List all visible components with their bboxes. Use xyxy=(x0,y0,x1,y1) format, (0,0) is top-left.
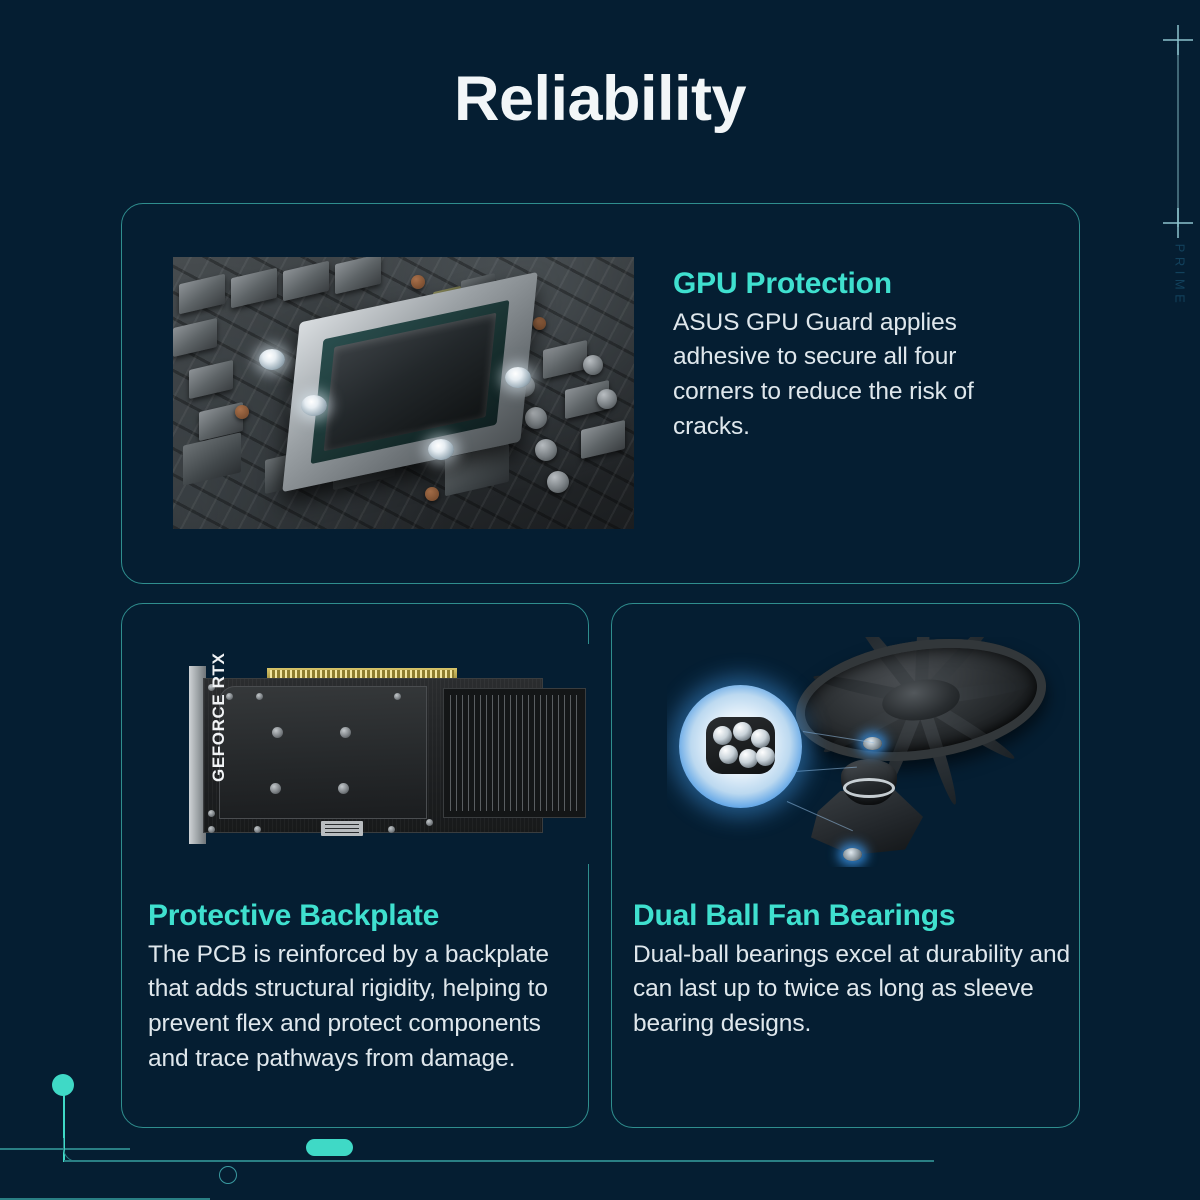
gpu-substrate xyxy=(311,300,510,464)
page-title: Reliability xyxy=(0,68,1200,131)
screw xyxy=(272,727,283,738)
circuit-trace xyxy=(0,1198,210,1200)
gpu-die-closeup-photo xyxy=(173,257,634,529)
mount-hole xyxy=(235,405,249,419)
circuit-node-filled xyxy=(52,1074,74,1096)
screw xyxy=(208,826,215,833)
adhesive-dot xyxy=(301,395,327,416)
dual-ball-bearing-detail xyxy=(706,717,775,774)
capacitor xyxy=(597,389,617,409)
circuit-decoration xyxy=(0,1040,420,1200)
screw xyxy=(270,783,281,794)
bearing-ball xyxy=(733,722,752,741)
bearing-highlight-bottom xyxy=(843,848,862,861)
geforce-rtx-label: GEFORCE RTX xyxy=(209,662,229,782)
mount-hole xyxy=(533,317,546,330)
model-sticker xyxy=(321,821,363,836)
magnifier-bubble xyxy=(679,685,802,808)
gpu-protection-text-block: GPU Protection ASUS GPU Guard applies ad… xyxy=(673,267,1025,445)
bearing-ball xyxy=(719,745,738,764)
graphics-card-backplate-photo: GEFORCE RTX xyxy=(181,644,598,864)
gpu-protection-title: GPU Protection xyxy=(673,267,1025,301)
screw xyxy=(254,826,261,833)
bearing-ball xyxy=(756,747,775,766)
circuit-elbow xyxy=(63,1138,123,1162)
bearing-ring xyxy=(843,778,895,798)
prime-brand-label: PRIME xyxy=(1173,231,1188,321)
edge-divider-line xyxy=(1177,44,1179,227)
screw xyxy=(340,727,351,738)
exploded-fan-with-dual-ball-bearing-magnifier xyxy=(667,637,1071,867)
circuit-trace xyxy=(64,1160,934,1162)
bearing-ball xyxy=(713,726,732,745)
bearing-highlight-top xyxy=(863,737,882,750)
screw xyxy=(208,810,215,817)
screw xyxy=(388,826,395,833)
screw xyxy=(256,693,263,700)
capacitor xyxy=(583,355,603,375)
capacitor xyxy=(535,439,557,461)
capacitor xyxy=(525,407,547,429)
dual-ball-fan-bearings-title: Dual Ball Fan Bearings xyxy=(633,899,1073,933)
bearing-assembly xyxy=(807,745,933,863)
gpu-protection-body: ASUS GPU Guard applies adhesive to secur… xyxy=(673,306,1025,445)
adhesive-dot xyxy=(428,439,454,460)
dual-ball-fan-bearings-text-block: Dual Ball Fan Bearings Dual-ball bearing… xyxy=(633,899,1073,1042)
dual-ball-fan-bearings-body: Dual-ball bearings excel at durability a… xyxy=(633,938,1073,1042)
screw xyxy=(426,819,433,826)
bearing-ball xyxy=(751,729,770,748)
adhesive-dot xyxy=(505,367,531,388)
mount-hole xyxy=(425,487,439,501)
gpu-die xyxy=(324,313,497,452)
adhesive-dot xyxy=(259,349,285,370)
capacitor xyxy=(547,471,569,493)
screw xyxy=(394,693,401,700)
bearing-ball xyxy=(739,749,758,768)
screw xyxy=(338,783,349,794)
mount-hole xyxy=(411,275,425,289)
heatsink-fins xyxy=(443,688,586,818)
backplate-panel xyxy=(219,686,427,819)
circuit-node-hollow xyxy=(219,1166,237,1184)
protective-backplate-title: Protective Backplate xyxy=(148,899,580,933)
circuit-pill-marker xyxy=(306,1139,353,1156)
